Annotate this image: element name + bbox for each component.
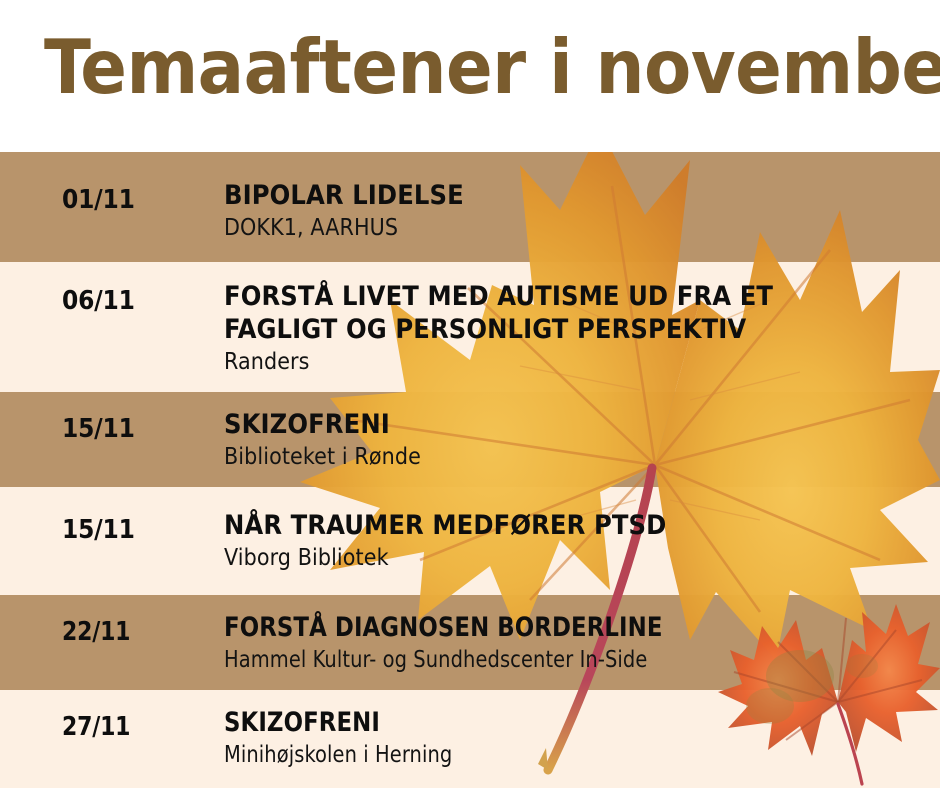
event-heading-1: BIPOLAR LIDELSE (224, 179, 924, 212)
event-heading-2: FORSTÅ LIVET MED AUTISME UD FRA ET FAGLI… (224, 280, 924, 346)
event-body-3: SKIZOFRENI Biblioteket i Rønde (224, 408, 924, 472)
event-row-1: 01/11 BIPOLAR LIDELSE DOKK1, AARHUS (0, 152, 940, 262)
event-date-5: 22/11 (62, 617, 203, 647)
event-heading-3: SKIZOFRENI (224, 408, 924, 441)
event-date-3: 15/11 (62, 414, 212, 444)
event-date-4: 15/11 (62, 515, 212, 545)
event-venue-5: Hammel Kultur- og Sundhedscenter In-Side (224, 646, 882, 675)
event-heading-6: SKIZOFRENI (224, 706, 882, 739)
event-heading-5: FORSTÅ DIAGNOSEN BORDERLINE (224, 611, 882, 644)
event-row-5: 22/11 FORSTÅ DIAGNOSEN BORDERLINE Hammel… (0, 595, 940, 690)
event-body-6: SKIZOFRENI Minihøjskolen i Herning (224, 706, 924, 770)
poster-canvas: Temaaftener i november 01/11 BIPOLAR LID… (0, 0, 940, 788)
event-row-6: 27/11 SKIZOFRENI Minihøjskolen i Herning (0, 690, 940, 788)
event-date-6: 27/11 (62, 712, 203, 742)
event-venue-3: Biblioteket i Rønde (224, 443, 924, 472)
event-body-4: NÅR TRAUMER MEDFØRER PTSD Viborg Bibliot… (224, 509, 924, 573)
event-date-2: 06/11 (62, 286, 212, 316)
event-venue-2: Randers (224, 348, 924, 377)
event-row-2: 06/11 FORSTÅ LIVET MED AUTISME UD FRA ET… (0, 262, 940, 392)
page-title: Temaaftener i november (44, 26, 921, 108)
event-venue-6: Minihøjskolen i Herning (224, 741, 882, 770)
event-row-3: 15/11 SKIZOFRENI Biblioteket i Rønde (0, 392, 940, 487)
event-venue-4: Viborg Bibliotek (224, 544, 924, 573)
event-row-4: 15/11 NÅR TRAUMER MEDFØRER PTSD Viborg B… (0, 487, 940, 595)
event-body-5: FORSTÅ DIAGNOSEN BORDERLINE Hammel Kultu… (224, 611, 924, 675)
event-body-1: BIPOLAR LIDELSE DOKK1, AARHUS (224, 179, 924, 243)
event-date-1: 01/11 (62, 185, 212, 215)
event-body-2: FORSTÅ LIVET MED AUTISME UD FRA ET FAGLI… (224, 280, 924, 377)
event-heading-4: NÅR TRAUMER MEDFØRER PTSD (224, 509, 924, 542)
event-venue-1: DOKK1, AARHUS (224, 214, 924, 243)
title-band: Temaaftener i november (0, 0, 940, 152)
